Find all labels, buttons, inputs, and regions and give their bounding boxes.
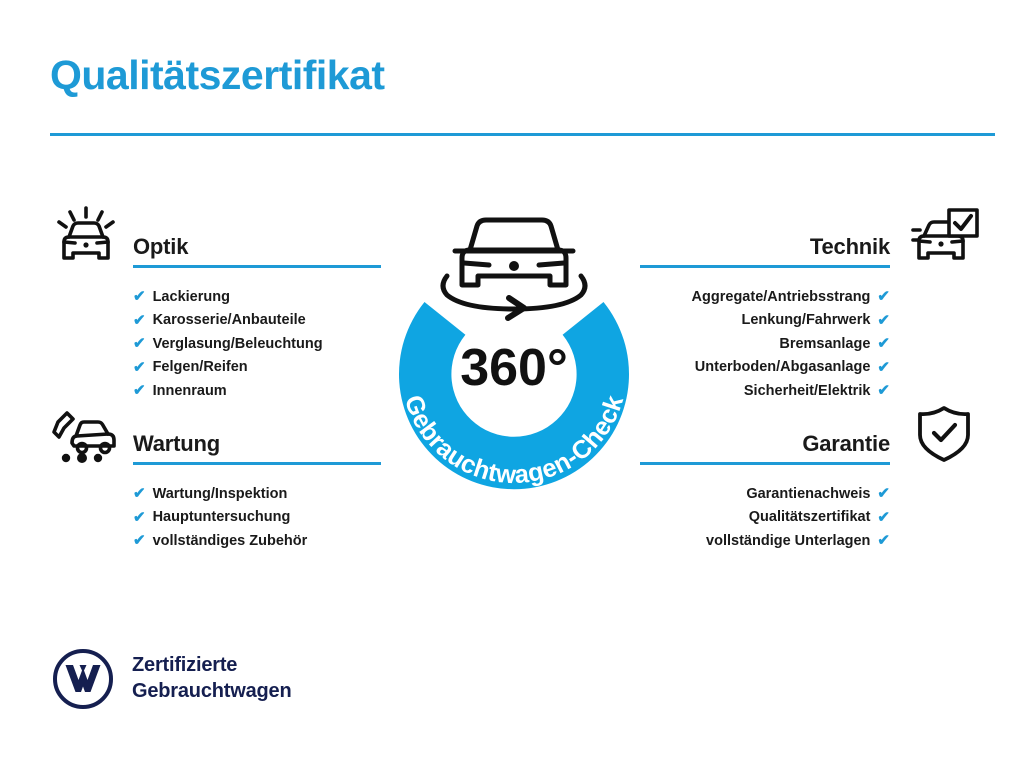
section-underline [640,265,890,268]
footer-logo: Zertifizierte Gebrauchtwagen [52,648,291,710]
section-header-wartung: Wartung [44,403,384,471]
section-title: Garantie [802,431,890,457]
check-icon: ✔ [133,533,146,548]
item-label: vollständiges Zubehör [153,534,308,549]
badge-360-gebrauchtwagen-check: Gebrauchtwagen-Check 360° [369,190,659,490]
car-checkbox-icon [908,206,980,268]
list-item: vollständige Unterlagen ✔ [640,529,985,553]
check-icon: ✔ [133,360,146,375]
list-item: ✔ Wartung/Inspektion [44,482,384,506]
section-header-garantie: Garantie [640,403,985,471]
item-list-garantie: Garantienachweis ✔ Qualitätszertifikat ✔… [640,482,985,553]
list-item: ✔ Karosserie/Anbauteile [44,309,384,333]
shield-check-icon [908,403,980,465]
item-list-optik: ✔ Lackierung ✔ Karosserie/Anbauteile ✔ V… [44,285,384,403]
list-item: Aggregate/Antriebsstrang ✔ [640,285,985,309]
badge-center-label: 360° [460,339,568,397]
vw-logo-icon [52,648,114,710]
section-title: Wartung [133,431,220,457]
list-item: ✔ Innenraum [44,379,384,403]
list-item: Bremsanlage ✔ [640,332,985,356]
check-icon: ✔ [877,313,890,328]
item-label: Verglasung/Beleuchtung [153,337,323,352]
list-item: Sicherheit/Elektrik ✔ [640,379,985,403]
check-icon: ✔ [877,510,890,525]
item-label: Wartung/Inspektion [153,487,288,502]
section-optik: Optik ✔ Lackierung ✔ Karosserie/Anbautei… [44,206,384,403]
list-item: ✔ Felgen/Reifen [44,356,384,380]
vw-logo-line1: Zertifizierte [132,653,291,679]
car-service-tool-icon [50,403,122,465]
section-underline [640,462,890,465]
item-label: Hauptuntersuchung [153,510,291,525]
car-front-lights-icon [50,206,122,268]
item-list-wartung: ✔ Wartung/Inspektion ✔ Hauptuntersuchung… [44,482,384,553]
item-label: Qualitätszertifikat [749,510,871,525]
check-icon: ✔ [877,289,890,304]
check-icon: ✔ [877,360,890,375]
page-title: Qualitätszertifikat [50,52,385,99]
list-item: Unterboden/Abgasanlage ✔ [640,356,985,380]
item-label: Karosserie/Anbauteile [153,313,306,328]
check-icon: ✔ [877,336,890,351]
item-list-technik: Aggregate/Antriebsstrang ✔ Lenkung/Fahrw… [640,285,985,403]
list-item: ✔ Verglasung/Beleuchtung [44,332,384,356]
check-icon: ✔ [133,313,146,328]
item-label: vollständige Unterlagen [706,534,870,549]
section-wartung: Wartung ✔ Wartung/Inspektion ✔ Hauptunte… [44,403,384,553]
section-underline [133,462,381,465]
header-divider [50,133,995,136]
car-rotation-icon [443,220,585,318]
check-icon: ✔ [877,486,890,501]
section-title: Optik [133,234,188,260]
item-label: Felgen/Reifen [153,360,248,375]
item-label: Innenraum [153,384,227,399]
check-icon: ✔ [133,383,146,398]
list-item: Qualitätszertifikat ✔ [640,506,985,530]
check-icon: ✔ [133,510,146,525]
check-icon: ✔ [133,486,146,501]
section-header-technik: Technik [640,206,985,274]
section-garantie: Garantie Garantienachweis ✔ Qualitätszer… [640,403,985,553]
section-header-optik: Optik [44,206,384,274]
section-technik: Technik Aggregate/Antriebsstrang ✔ Lenku… [640,206,985,403]
list-item: Lenkung/Fahrwerk ✔ [640,309,985,333]
vw-logo-text: Zertifizierte Gebrauchtwagen [132,653,291,704]
list-item: ✔ vollständiges Zubehör [44,529,384,553]
item-label: Garantienachweis [746,487,870,502]
section-title: Technik [810,234,890,260]
check-icon: ✔ [877,533,890,548]
list-item: ✔ Lackierung [44,285,384,309]
item-label: Unterboden/Abgasanlage [695,360,871,375]
section-underline [133,265,381,268]
check-icon: ✔ [133,289,146,304]
check-icon: ✔ [877,383,890,398]
certificate-page: Qualitätszertifikat Optik [0,0,1024,768]
vw-logo-line2: Gebrauchtwagen [132,679,291,705]
item-label: Lenkung/Fahrwerk [742,313,871,328]
check-icon: ✔ [133,336,146,351]
list-item: ✔ Hauptuntersuchung [44,506,384,530]
item-label: Lackierung [153,290,230,305]
item-label: Sicherheit/Elektrik [744,384,871,399]
list-item: Garantienachweis ✔ [640,482,985,506]
item-label: Bremsanlage [779,337,870,352]
item-label: Aggregate/Antriebsstrang [692,290,871,305]
